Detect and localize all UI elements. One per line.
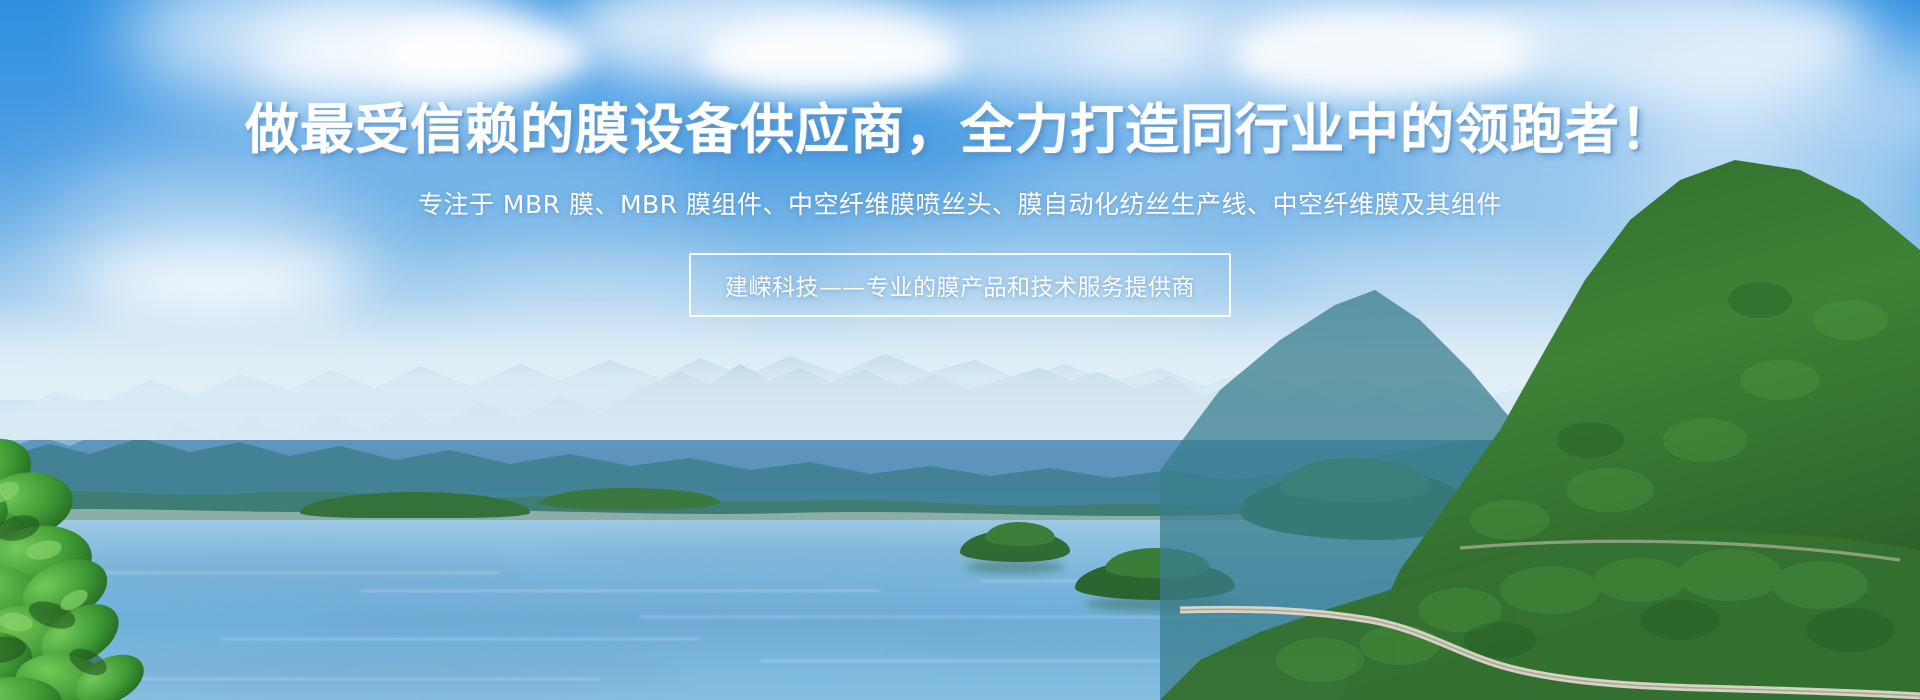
- hero-banner: 做最受信赖的膜设备供应商，全力打造同行业中的领跑者！ 专注于 MBR 膜、MBR…: [0, 0, 1920, 700]
- forested-hill-right: [1160, 140, 1920, 700]
- foreground-foliage-left: [0, 400, 270, 700]
